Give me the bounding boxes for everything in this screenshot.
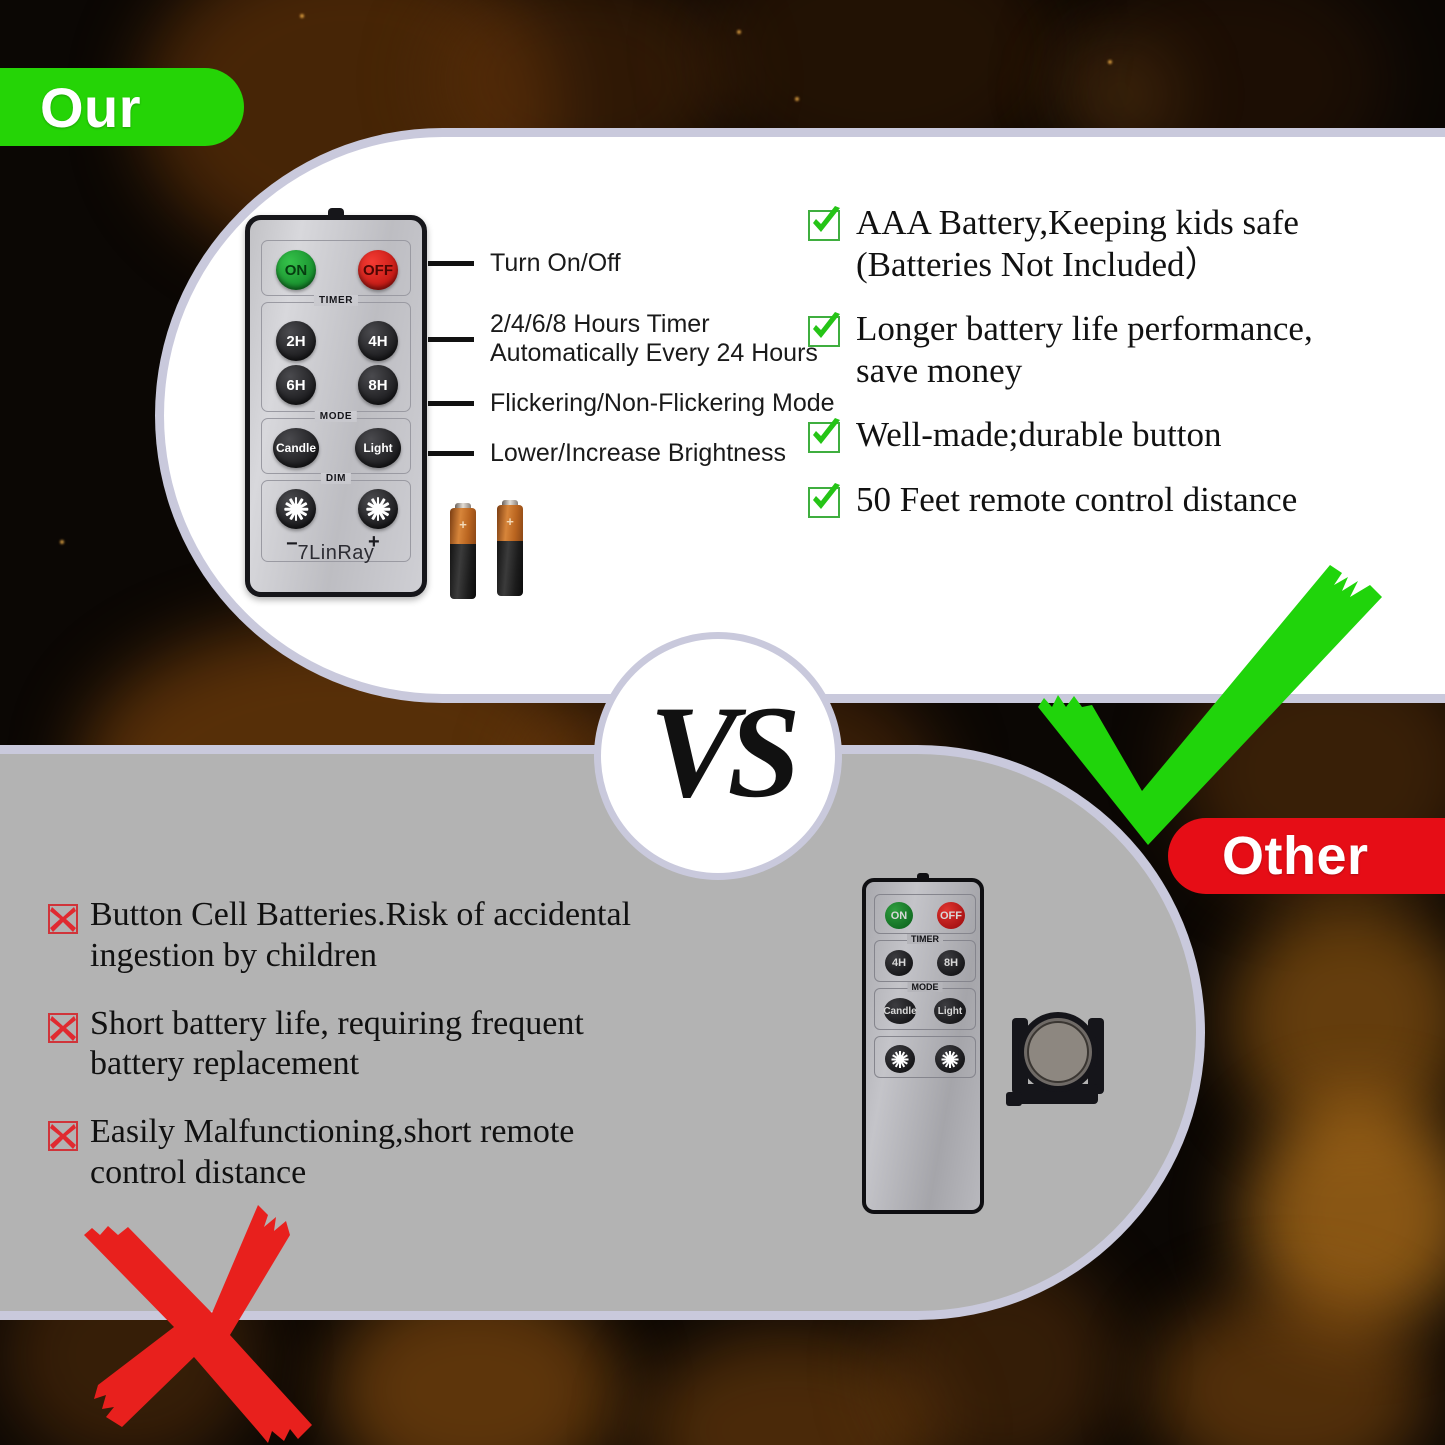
callout-text: Flickering/Non-Flickering Mode (490, 389, 835, 418)
brightness-sun-icon (366, 497, 390, 521)
our-remote-control[interactable]: ON OFF TIMER 2H 4H 6H 8H MODE Candle Lig… (245, 215, 427, 597)
pros-list: AAA Battery,Keeping kids safe (Batteries… (808, 202, 1428, 544)
remote-ir-nub (328, 208, 344, 217)
list-item: Short battery life, requiring frequent b… (48, 1004, 758, 1086)
power-group: ON OFF (261, 240, 411, 296)
other-remote-on-button: ON (885, 902, 913, 929)
check-box-icon (808, 484, 846, 522)
check-box-icon (808, 313, 846, 351)
callout-text: 2/4/6/8 Hours Timer Automatically Every … (490, 310, 818, 368)
list-item: AAA Battery,Keeping kids safe (Batteries… (808, 202, 1428, 286)
brightness-sun-icon (942, 1051, 959, 1068)
callout-timer: 2/4/6/8 Hours Timer Automatically Every … (428, 310, 818, 368)
callout-leader-line (428, 337, 474, 342)
brightness-sun-icon (284, 497, 308, 521)
remote-timer-2h-button[interactable]: 2H (276, 321, 316, 361)
cons-list: Button Cell Batteries.Risk of accidental… (48, 895, 758, 1221)
aaa-battery: + (450, 503, 476, 599)
battery-polarity-label: + (450, 517, 476, 532)
vs-label: VS (649, 686, 790, 818)
big-red-cross-icon (62, 1195, 332, 1445)
remote-dim-up-button[interactable] (358, 489, 398, 529)
aaa-battery: + (497, 500, 523, 596)
cross-box-icon (48, 904, 78, 934)
list-item-text: Longer battery life performance, save mo… (856, 308, 1313, 392)
other-remote-dim-up-button (935, 1045, 965, 1073)
other-remote-candle-button: Candle (884, 998, 916, 1024)
callout-leader-line (428, 261, 474, 266)
remote-timer-4h-button[interactable]: 4H (358, 321, 398, 361)
infographic-stage: ON OFF TIMER 2H 4H 6H 8H MODE Candle Lig… (0, 0, 1445, 1445)
other-power-group: ON OFF (874, 894, 976, 934)
remote-on-button[interactable]: ON (276, 250, 316, 290)
check-box-icon (808, 207, 846, 245)
button-cell-battery-icon (1004, 1000, 1112, 1118)
vs-badge: VS (594, 632, 842, 880)
remote-candle-button[interactable]: Candle (273, 428, 319, 468)
list-item: Easily Malfunctioning,short remote contr… (48, 1112, 758, 1194)
remote-ir-nub (917, 873, 929, 880)
other-remote-dim-down-button (885, 1045, 915, 1073)
other-dim-group (874, 1036, 976, 1078)
other-timer-label: TIMER (907, 934, 943, 944)
other-timer-group: TIMER 4H 8H (874, 940, 976, 982)
mode-group: MODE Candle Light (261, 418, 411, 474)
other-remote-timer-8h-button: 8H (937, 950, 965, 976)
brightness-sun-icon (892, 1051, 909, 1068)
remote-timer-6h-button[interactable]: 6H (276, 365, 316, 405)
list-item-text: 50 Feet remote control distance (856, 479, 1297, 521)
list-item: Well-made;durable button (808, 414, 1428, 457)
callout-leader-line (428, 401, 474, 406)
callout-mode: Flickering/Non-Flickering Mode (428, 389, 835, 418)
callout-leader-line (428, 451, 474, 456)
remote-brand-label: 7LinRay (250, 542, 422, 565)
timer-group: TIMER 2H 4H 6H 8H (261, 302, 411, 412)
other-remote-timer-4h-button: 4H (885, 950, 913, 976)
list-item: Button Cell Batteries.Risk of accidental… (48, 895, 758, 977)
remote-light-button[interactable]: Light (355, 428, 401, 468)
dim-group-label: DIM (321, 473, 351, 484)
cross-box-icon (48, 1121, 78, 1151)
check-box-icon (808, 419, 846, 457)
other-remote-off-button: OFF (937, 902, 965, 929)
list-item-text: Short battery life, requiring frequent b… (90, 1004, 584, 1086)
other-remote-control: ON OFF TIMER 4H 8H MODE Candle Light (862, 878, 984, 1214)
other-mode-label: MODE (908, 982, 943, 992)
list-item-text: AAA Battery,Keeping kids safe (Batteries… (856, 202, 1299, 286)
callout-text: Lower/Increase Brightness (490, 439, 786, 468)
mode-group-label: MODE (315, 411, 357, 422)
our-badge: Our (0, 68, 244, 146)
list-item-text: Easily Malfunctioning,short remote contr… (90, 1112, 574, 1194)
other-mode-group: MODE Candle Light (874, 988, 976, 1030)
battery-polarity-label: + (497, 514, 523, 529)
timer-group-label: TIMER (314, 295, 358, 306)
other-remote-light-button: Light (934, 998, 966, 1024)
list-item-text: Button Cell Batteries.Risk of accidental… (90, 895, 631, 977)
callout-power: Turn On/Off (428, 249, 621, 278)
list-item: 50 Feet remote control distance (808, 479, 1428, 522)
remote-off-button[interactable]: OFF (358, 250, 398, 290)
remote-timer-8h-button[interactable]: 8H (358, 365, 398, 405)
cross-box-icon (48, 1013, 78, 1043)
remote-dim-down-button[interactable] (276, 489, 316, 529)
big-green-check-icon (1030, 555, 1390, 855)
callout-text: Turn On/Off (490, 249, 621, 278)
list-item: Longer battery life performance, save mo… (808, 308, 1428, 392)
callout-brightness: Lower/Increase Brightness (428, 439, 786, 468)
list-item-text: Well-made;durable button (856, 414, 1222, 456)
